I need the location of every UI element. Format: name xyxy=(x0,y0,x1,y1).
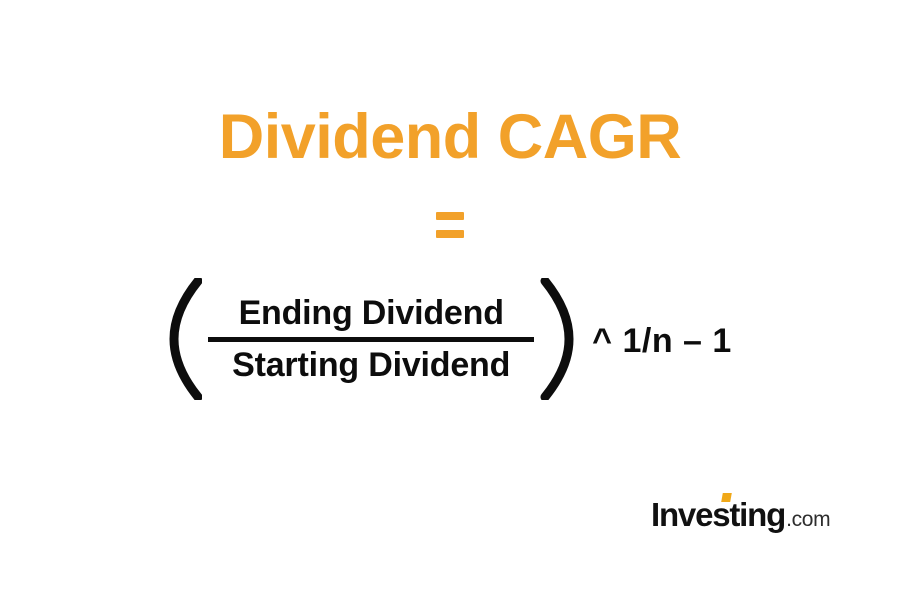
right-parenthesis-icon xyxy=(540,278,574,400)
logo-brand-text: Investing xyxy=(651,498,785,531)
fraction-denominator: Starting Dividend xyxy=(232,342,510,385)
slide-canvas: Dividend CAGR = Ending Dividend Starting… xyxy=(0,0,900,600)
logo-tld-text: .com xyxy=(786,509,830,530)
left-parenthesis-icon xyxy=(168,278,202,400)
formula-expression: Ending Dividend Starting Dividend ^ 1/n … xyxy=(0,278,900,400)
fraction-numerator: Ending Dividend xyxy=(239,293,504,336)
page-title: Dividend CAGR xyxy=(0,104,900,170)
investing-com-logo[interactable]: Investing .com xyxy=(651,498,830,532)
equals-bar-top xyxy=(436,212,464,220)
equals-bar-bottom xyxy=(436,230,464,238)
fraction: Ending Dividend Starting Dividend xyxy=(202,293,540,384)
logo-dot-icon xyxy=(721,493,732,502)
formula-exponent: ^ 1/n – 1 xyxy=(592,322,732,361)
parenthesized-fraction: Ending Dividend Starting Dividend xyxy=(168,278,574,400)
equals-sign: = xyxy=(436,212,464,240)
